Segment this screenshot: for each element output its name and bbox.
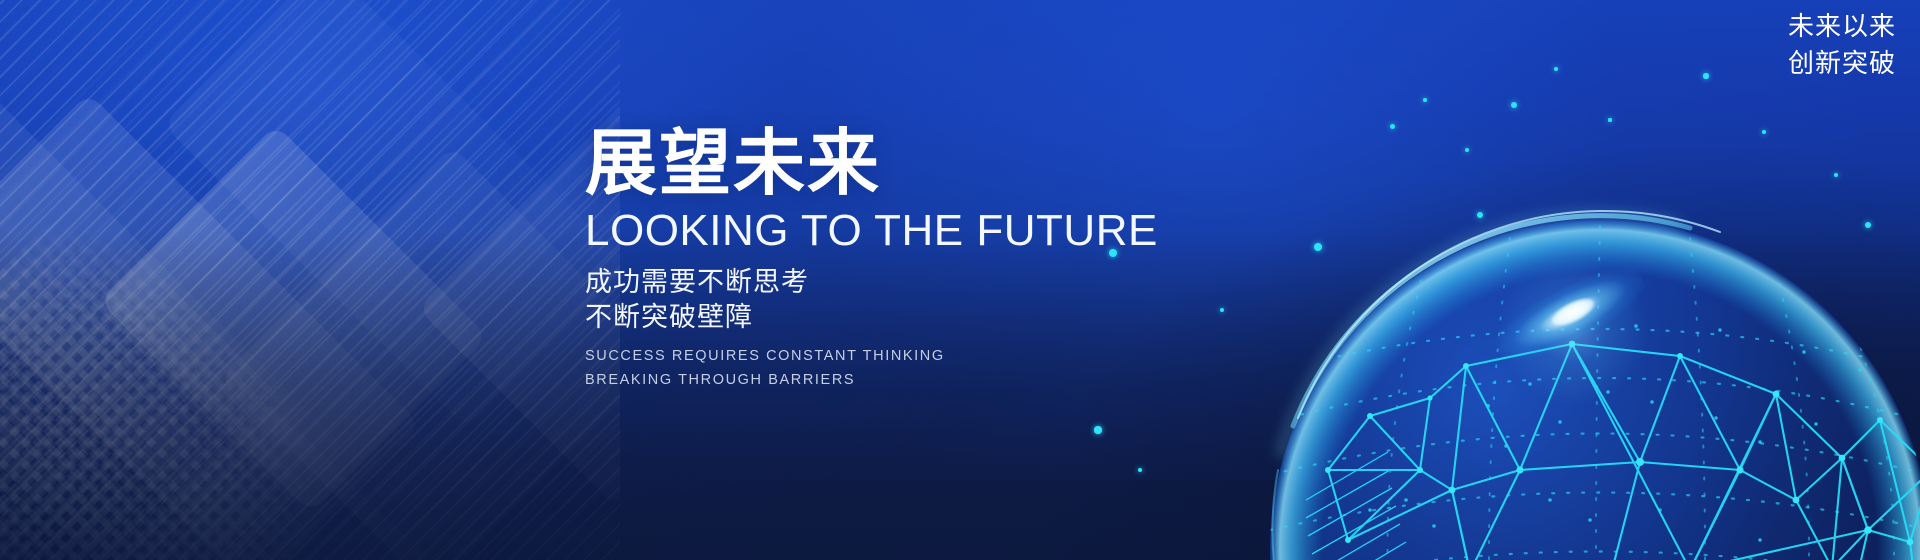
particle-dot xyxy=(1703,73,1708,78)
particle-dot xyxy=(1865,222,1871,228)
promo-banner: 未来以来 创新突破 展望未来 LOOKING TO THE FUTURE 成功需… xyxy=(0,0,1920,560)
subhead-english-line-2: BREAKING THROUGH BARRIERS xyxy=(585,369,1285,392)
particle-dot xyxy=(1511,102,1517,108)
subhead-chinese-line-2: 不断突破壁障 xyxy=(585,300,1285,335)
particle-dot xyxy=(1762,130,1766,134)
headline-chinese: 展望未来 xyxy=(585,128,1285,200)
particle-dot xyxy=(1834,173,1838,177)
particle-dot xyxy=(1390,124,1395,129)
particle-dot xyxy=(1094,426,1101,433)
globe-svg xyxy=(1220,170,1920,560)
headline-block: 展望未来 LOOKING TO THE FUTURE 成功需要不断思考 不断突破… xyxy=(585,128,1285,392)
globe-graphic xyxy=(1220,170,1920,560)
particle-dot xyxy=(1608,118,1611,121)
corner-slogan: 未来以来 创新突破 xyxy=(1788,8,1896,82)
slogan-line-2: 创新突破 xyxy=(1788,45,1896,82)
slogan-line-1: 未来以来 xyxy=(1788,8,1896,45)
particle-dot xyxy=(1465,148,1469,152)
subhead-english-line-1: SUCCESS REQUIRES CONSTANT THINKING xyxy=(585,345,1285,368)
headline-english: LOOKING TO THE FUTURE xyxy=(585,206,1285,255)
particle-dot xyxy=(1423,98,1427,102)
subhead-chinese-line-1: 成功需要不断思考 xyxy=(585,265,1285,300)
